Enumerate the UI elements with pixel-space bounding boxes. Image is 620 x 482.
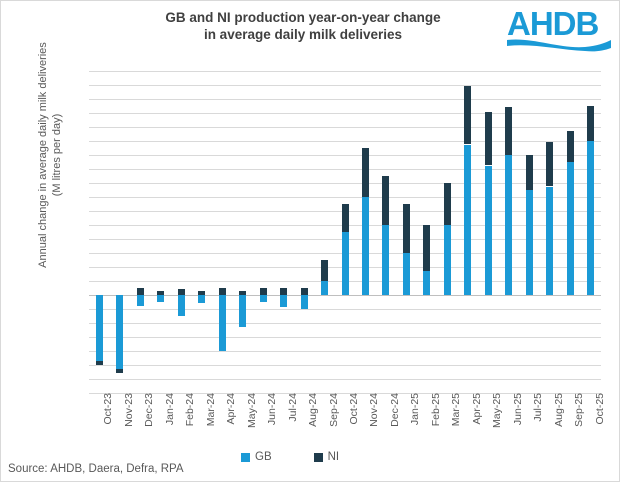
bar-segment-gb[interactable] [403, 253, 410, 295]
bar-segment-ni[interactable] [423, 225, 430, 271]
bar-segment-ni[interactable] [260, 288, 267, 295]
chart-legend: GBNI [241, 451, 339, 463]
bar-segment-ni[interactable] [403, 204, 410, 253]
bar-segment-gb[interactable] [362, 197, 369, 295]
bar-segment-gb[interactable] [96, 295, 103, 361]
x-axis-tick-label: Aug-25 [554, 393, 565, 453]
x-axis-tick-label: Mar-25 [451, 393, 462, 453]
x-axis-tick-label: Jul-25 [533, 393, 544, 453]
legend-item-gb[interactable]: GB [241, 451, 272, 463]
x-axis-tick-label: Nov-24 [369, 393, 380, 453]
x-axis-tick-label: Dec-23 [144, 393, 155, 453]
x-axis-tick-label: Feb-24 [185, 393, 196, 453]
bar-segment-gb[interactable] [444, 225, 451, 295]
x-axis-tick-label: Oct-23 [103, 393, 114, 453]
bar-segment-gb[interactable] [382, 225, 389, 295]
bar-segment-ni[interactable] [239, 291, 246, 295]
bar-segment-gb[interactable] [116, 295, 123, 369]
chart-title: GB and NI production year-on-year change… [93, 9, 513, 43]
x-axis-tick-label: Dec-24 [390, 393, 401, 453]
bar-group[interactable] [485, 71, 492, 393]
bar-segment-gb[interactable] [423, 271, 430, 296]
x-axis-tick-label: Sep-25 [574, 393, 585, 453]
bar-group[interactable] [423, 71, 430, 393]
x-axis-tick-label: Oct-24 [349, 393, 360, 453]
bar-segment-gb[interactable] [587, 141, 594, 295]
x-axis-tick-label: May-25 [492, 393, 503, 453]
bar-segment-ni[interactable] [301, 288, 308, 295]
bar-segment-ni[interactable] [526, 155, 533, 190]
plot-area: 3.23.02.82.62.42.22.01.81.61.41.21.00.80… [89, 71, 601, 393]
bar-group[interactable] [137, 71, 144, 393]
source-note: Source: AHDB, Daera, Defra, RPA [8, 463, 184, 475]
legend-label: NI [328, 451, 340, 463]
bar-segment-ni[interactable] [485, 112, 492, 166]
x-axis-tick-label: Jul-24 [288, 393, 299, 453]
x-axis-tick-label: Jan-24 [165, 393, 176, 453]
bar-segment-gb[interactable] [137, 295, 144, 306]
bar-group[interactable] [362, 71, 369, 393]
x-axis-tick-label: Mar-24 [206, 393, 217, 453]
bar-segment-ni[interactable] [219, 288, 226, 295]
bar-group[interactable] [382, 71, 389, 393]
bar-group[interactable] [321, 71, 328, 393]
x-axis-tick-label: Jun-25 [513, 393, 524, 453]
y-axis-title-line-1: Annual change in average daily milk deli… [36, 0, 50, 320]
bar-segment-gb[interactable] [321, 281, 328, 295]
bar-segment-ni[interactable] [321, 260, 328, 281]
bar-segment-gb[interactable] [342, 232, 349, 295]
legend-item-ni[interactable]: NI [314, 451, 340, 463]
bar-group[interactable] [219, 71, 226, 393]
bar-segment-ni[interactable] [198, 291, 205, 295]
bar-segment-ni[interactable] [567, 131, 574, 163]
bar-segment-gb[interactable] [219, 295, 226, 351]
x-axis-tick-label: Sep-24 [329, 393, 340, 453]
bar-group[interactable] [505, 71, 512, 393]
x-axis-tick-label: Apr-24 [226, 393, 237, 453]
x-axis-tick-label: Apr-25 [472, 393, 483, 453]
chart-title-line-2: in average daily milk deliveries [93, 26, 513, 43]
x-axis-tick-label: Jan-25 [410, 393, 421, 453]
bar-group[interactable] [464, 71, 471, 393]
bar-segment-gb[interactable] [505, 155, 512, 295]
bar-segment-gb[interactable] [567, 162, 574, 295]
bar-group[interactable] [260, 71, 267, 393]
bar-segment-gb[interactable] [301, 295, 308, 309]
chart-container: GB and NI production year-on-year change… [0, 0, 620, 482]
bar-group[interactable] [546, 71, 553, 393]
legend-label: GB [255, 451, 272, 463]
bar-group[interactable] [526, 71, 533, 393]
y-axis-title-line-2: (M litres per day) [50, 0, 64, 320]
bar-segment-gb[interactable] [280, 295, 287, 307]
bar-segment-gb[interactable] [526, 190, 533, 295]
chart-title-line-1: GB and NI production year-on-year change [93, 9, 513, 26]
x-axis-tick-label: Aug-24 [308, 393, 319, 453]
bar-segment-gb[interactable] [239, 295, 246, 327]
bar-segment-ni[interactable] [546, 142, 553, 186]
bar-group[interactable] [403, 71, 410, 393]
bar-group[interactable] [301, 71, 308, 393]
bar-segment-ni[interactable] [505, 107, 512, 155]
bar-segment-ni[interactable] [444, 183, 451, 225]
ahdb-logo-text: AHDB [507, 7, 611, 41]
bar-segment-gb[interactable] [178, 295, 185, 316]
bar-group[interactable] [116, 71, 123, 393]
x-axis-tick-label: Feb-25 [431, 393, 442, 453]
bar-group[interactable] [567, 71, 574, 393]
bar-segment-gb[interactable] [198, 295, 205, 303]
ahdb-logo: AHDB [507, 7, 611, 57]
bar-group[interactable] [239, 71, 246, 393]
x-axis-tick-label: Jun-24 [267, 393, 278, 453]
bar-segment-ni[interactable] [280, 288, 287, 295]
bar-segment-ni[interactable] [342, 204, 349, 232]
x-axis: Oct-23Nov-23Dec-23Jan-24Feb-24Mar-24Apr-… [89, 393, 601, 453]
x-axis-tick-label: May-24 [247, 393, 258, 453]
bar-segment-ni[interactable] [587, 106, 594, 141]
bar-segment-gb[interactable] [157, 295, 164, 302]
bar-group[interactable] [280, 71, 287, 393]
bar-group[interactable] [178, 71, 185, 393]
bar-segment-ni[interactable] [116, 369, 123, 373]
bar-group[interactable] [157, 71, 164, 393]
bar-group[interactable] [198, 71, 205, 393]
bar-segment-gb[interactable] [464, 145, 471, 296]
bar-segment-ni[interactable] [157, 291, 164, 295]
bar-group[interactable] [444, 71, 451, 393]
bar-segment-ni[interactable] [96, 361, 103, 365]
bar-segment-gb[interactable] [485, 166, 492, 296]
bar-segment-ni[interactable] [464, 86, 471, 144]
bar-group[interactable] [342, 71, 349, 393]
bar-segment-ni[interactable] [362, 148, 369, 197]
bar-group[interactable] [587, 71, 594, 393]
legend-swatch-icon [241, 453, 250, 462]
x-axis-tick-label: Nov-23 [124, 393, 135, 453]
y-axis-title: Annual change in average daily milk deli… [36, 0, 64, 320]
bar-segment-gb[interactable] [260, 295, 267, 302]
x-axis-tick-label: Oct-25 [595, 393, 606, 453]
legend-swatch-icon [314, 453, 323, 462]
bar-group[interactable] [96, 71, 103, 393]
bar-segment-ni[interactable] [178, 289, 185, 295]
bar-segment-ni[interactable] [137, 288, 144, 295]
bar-segment-ni[interactable] [382, 176, 389, 225]
bar-segment-gb[interactable] [546, 187, 553, 296]
